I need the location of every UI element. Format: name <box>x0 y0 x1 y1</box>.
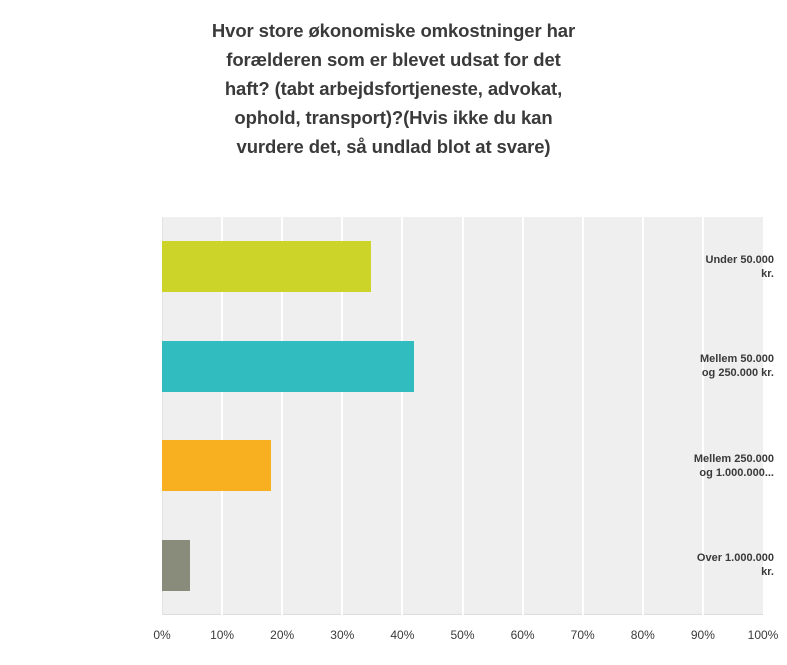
x-tick-label: 30% <box>312 628 372 642</box>
bar-chart-figure: Hvor store økonomiske omkostninger harfo… <box>0 0 787 665</box>
category-label-line: kr. <box>634 565 774 579</box>
x-tick-label: 70% <box>553 628 613 642</box>
category-label-line: kr. <box>634 267 774 281</box>
chart-title-line: ophold, transport)?(Hvis ikke du kan <box>120 103 667 132</box>
bar-2[interactable] <box>162 341 414 392</box>
x-tick-label: 80% <box>613 628 673 642</box>
x-tick-label: 10% <box>192 628 252 642</box>
category-label: Mellem 50.000og 250.000 kr. <box>634 352 774 380</box>
bar-1[interactable] <box>162 241 371 292</box>
bar-3[interactable] <box>162 440 271 491</box>
x-tick-label: 0% <box>132 628 192 642</box>
x-tick-label: 50% <box>433 628 493 642</box>
category-label-line: Mellem 250.000 <box>634 452 774 466</box>
chart-title: Hvor store økonomiske omkostninger harfo… <box>120 16 667 161</box>
category-label-line: Mellem 50.000 <box>634 352 774 366</box>
category-label: Over 1.000.000kr. <box>634 551 774 579</box>
category-label-line: Over 1.000.000 <box>634 551 774 565</box>
chart-title-line: haft? (tabt arbejdsfortjeneste, advokat, <box>120 74 667 103</box>
chart-title-line: Hvor store økonomiske omkostninger har <box>120 16 667 45</box>
x-tick-label: 90% <box>673 628 733 642</box>
category-label: Under 50.000kr. <box>634 253 774 281</box>
category-label: Mellem 250.000og 1.000.000... <box>634 452 774 480</box>
category-label-line: og 250.000 kr. <box>634 366 774 380</box>
x-tick-label: 20% <box>252 628 312 642</box>
bar-4[interactable] <box>162 540 190 591</box>
category-label-line: og 1.000.000... <box>634 466 774 480</box>
chart-title-line: vurdere det, så undlad blot at svare) <box>120 132 667 161</box>
x-tick-label: 40% <box>372 628 432 642</box>
x-tick-label: 100% <box>733 628 787 642</box>
chart-title-line: forælderen som er blevet udsat for det <box>120 45 667 74</box>
category-label-line: Under 50.000 <box>634 253 774 267</box>
x-tick-label: 60% <box>493 628 553 642</box>
